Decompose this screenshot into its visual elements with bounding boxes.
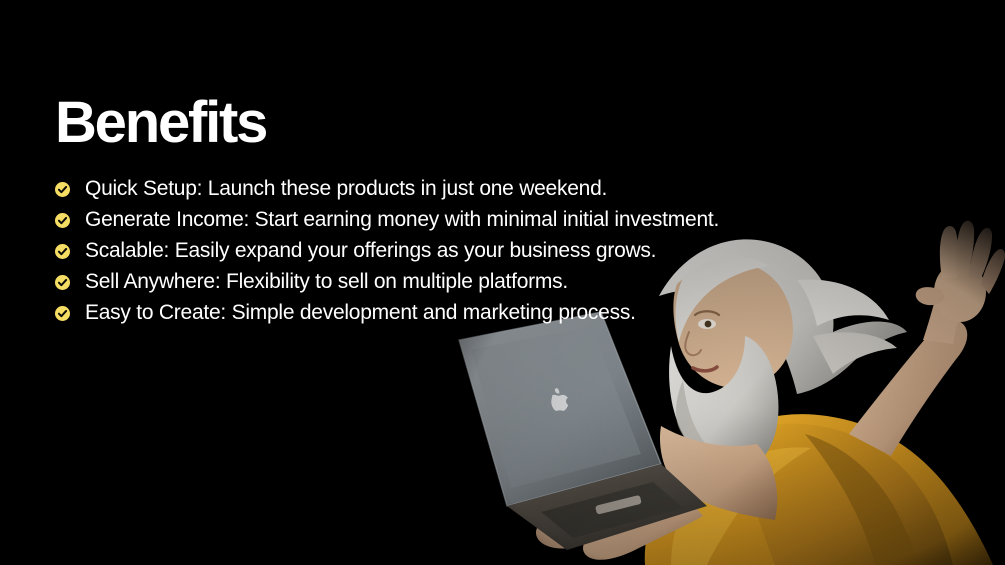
laptop bbox=[459, 312, 707, 550]
list-item-label: Easy to Create: Simple development and m… bbox=[85, 302, 636, 324]
list-item: Quick Setup: Launch these products in ju… bbox=[55, 178, 815, 200]
benefits-list: Quick Setup: Launch these products in ju… bbox=[55, 178, 815, 324]
raised-arm bbox=[849, 221, 1005, 456]
list-item-label: Sell Anywhere: Flexibility to sell on mu… bbox=[85, 271, 568, 293]
list-item-label: Quick Setup: Launch these products in ju… bbox=[85, 178, 607, 200]
slide-content: Benefits Quick Setup: Launch these produ… bbox=[55, 92, 815, 333]
slide-canvas: Benefits Quick Setup: Launch these produ… bbox=[0, 0, 1005, 565]
check-circle-icon bbox=[55, 182, 70, 197]
list-item: Easy to Create: Simple development and m… bbox=[55, 302, 815, 324]
open-hand-icon bbox=[916, 221, 1005, 322]
holding-arm bbox=[536, 490, 703, 560]
list-item: Sell Anywhere: Flexibility to sell on mu… bbox=[55, 271, 815, 293]
robe-group bbox=[645, 414, 993, 565]
list-item-label: Scalable: Easily expand your offerings a… bbox=[85, 240, 656, 262]
chest-shoulder bbox=[660, 426, 777, 520]
check-circle-icon bbox=[55, 306, 70, 321]
check-circle-icon bbox=[55, 213, 70, 228]
check-circle-icon bbox=[55, 275, 70, 290]
list-item: Scalable: Easily expand your offerings a… bbox=[55, 240, 815, 262]
page-title: Benefits bbox=[55, 92, 815, 154]
list-item-label: Generate Income: Start earning money wit… bbox=[85, 209, 719, 231]
list-item: Generate Income: Start earning money wit… bbox=[55, 209, 815, 231]
check-circle-icon bbox=[55, 244, 70, 259]
hand-holding-laptop bbox=[536, 517, 590, 548]
apple-logo-icon bbox=[551, 388, 568, 411]
